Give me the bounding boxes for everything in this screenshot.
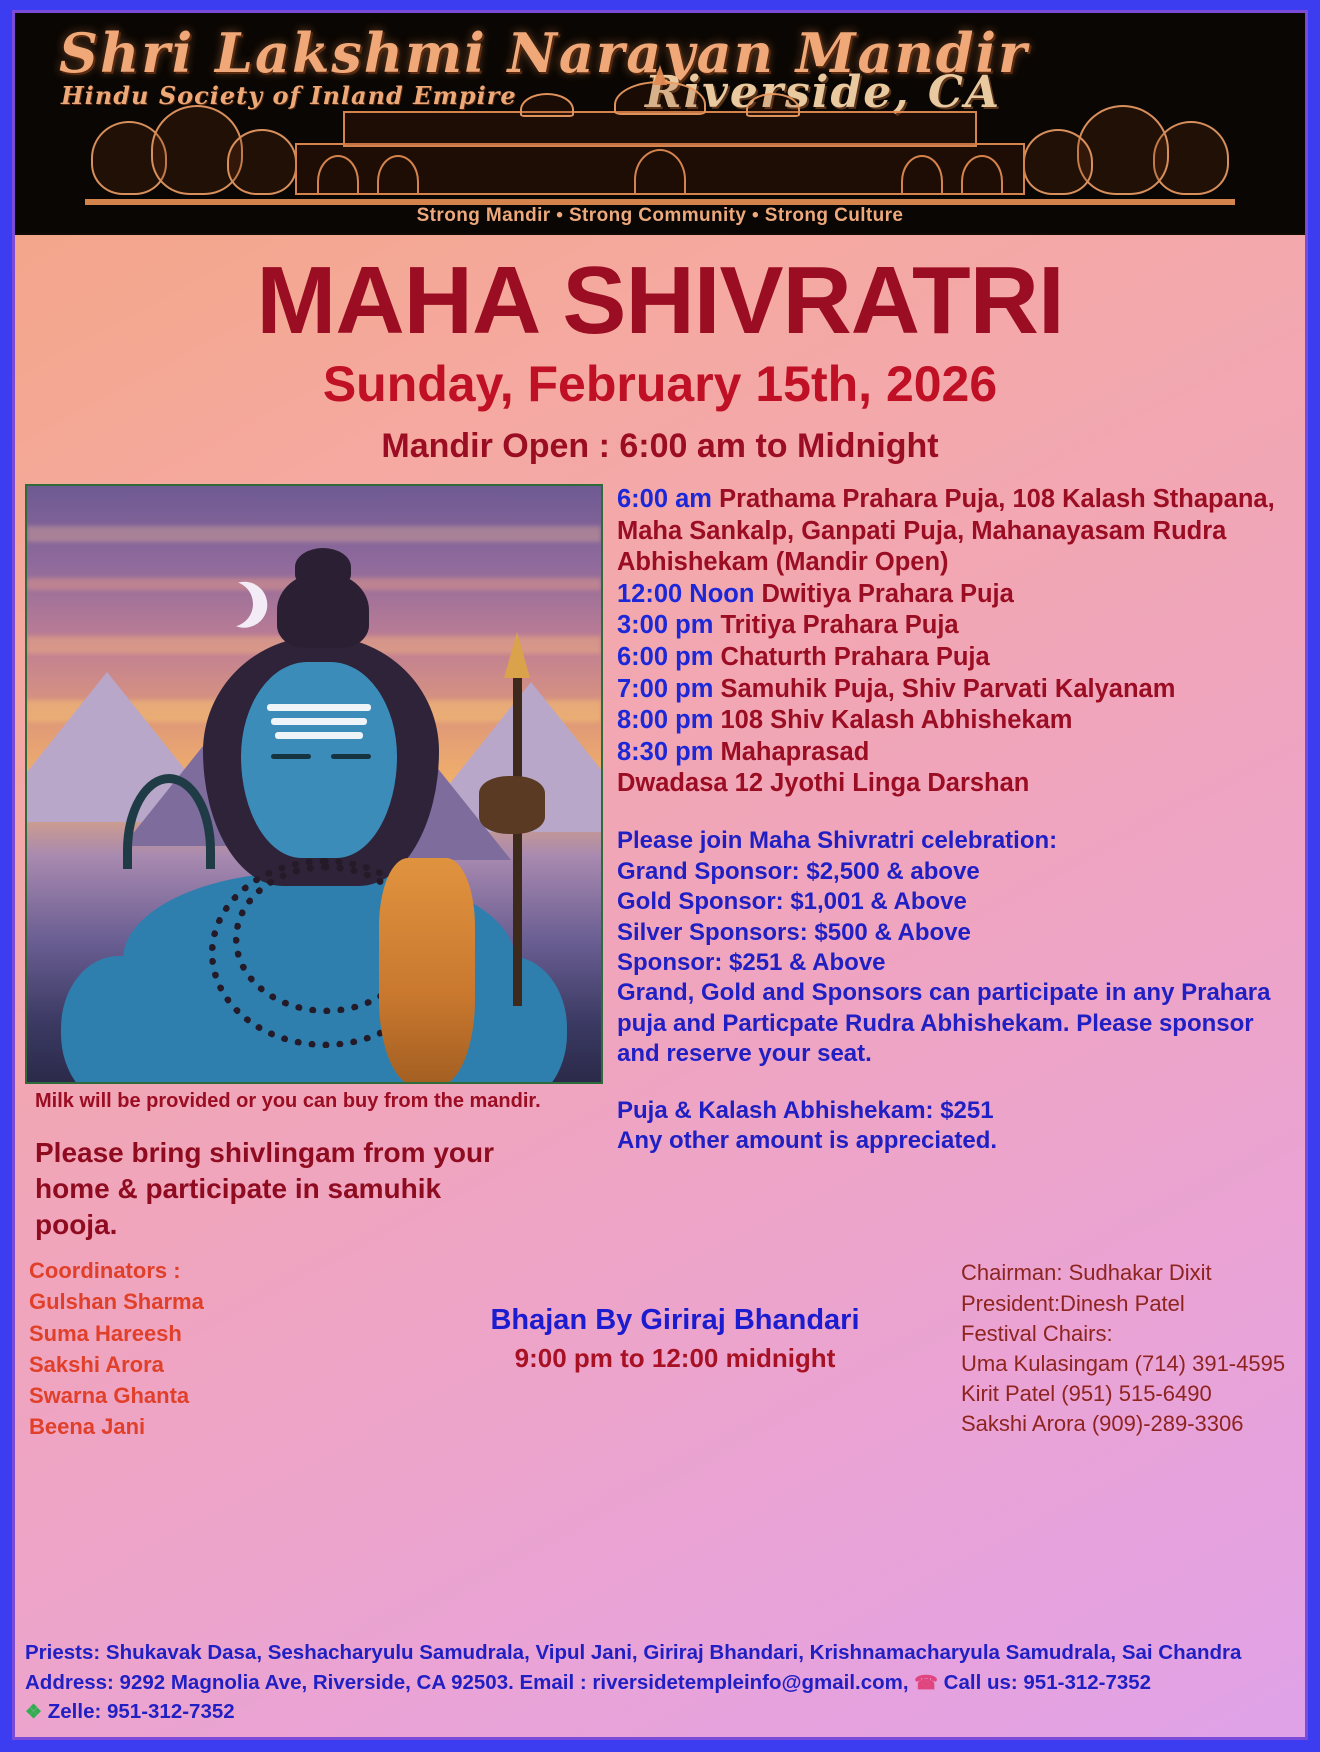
schedule-item: 6:00 am Prathama Prahara Puja, 108 Kalas… [617,484,1289,579]
bhajan-block: Bhajan By Giriraj Bhandari 9:00 pm to 12… [389,1258,961,1374]
coordinators-names: Gulshan SharmaSuma HareeshSakshi AroraSw… [29,1286,389,1442]
officers-block: Chairman: Sudhakar DixitPresident:Dinesh… [961,1258,1291,1439]
coordinator-name: Swarna Ghanta [29,1380,389,1411]
schedule-time: 3:00 pm [617,611,713,639]
left-column: Milk will be provided or you can buy fro… [15,484,607,1242]
schedule-description: Prathama Prahara Puja, 108 Kalash Sthapa… [617,485,1275,576]
coordinator-name: Gulshan Sharma [29,1286,389,1317]
schedule-item: 8:00 pm 108 Shiv Kalash Abhishekam [617,705,1289,737]
schedule-item: 8:30 pm Mahaprasad [617,737,1289,769]
milk-note: Milk will be provided or you can buy fro… [35,1090,607,1113]
phone-icon: ☎ [914,1673,938,1694]
sponsorship-intro: Please join Maha Shivratri celebration: [617,826,1289,856]
trident-icon [513,676,522,1006]
temple-icon [85,83,1235,205]
bhajan-time: 9:00 pm to 12:00 midnight [389,1343,961,1374]
pricing-block: Puja & Kalash Abhishekam: $251 Any other… [617,1096,1289,1157]
coordinators-block: Coordinators : Gulshan SharmaSuma Harees… [29,1258,389,1442]
schedule-description: Tritiya Prahara Puja [720,611,958,639]
sponsorship-block: Please join Maha Shivratri celebration: … [617,826,1289,1070]
schedule-time: 8:00 pm [617,706,713,734]
shiva-illustration [25,484,603,1084]
puja-kalash-price: Puja & Kalash Abhishekam: $251 [617,1096,1289,1126]
bhajan-title: Bhajan By Giriraj Bhandari [389,1304,961,1337]
sponsorship-note: Grand, Gold and Sponsors can participate… [617,978,1289,1069]
schedule-item: 6:00 pm Chaturth Prahara Puja [617,642,1289,674]
officer-line: Uma Kulasingam (714) 391-4595 [961,1349,1291,1379]
schedule-item: 12:00 Noon Dwitiya Prahara Puja [617,579,1289,611]
temple-tagline: Strong Mandir • Strong Community • Stron… [15,205,1305,227]
officer-line: Festival Chairs: [961,1319,1291,1349]
damaru-icon [479,776,545,834]
shivlingam-note: Please bring shivlingam from your home &… [35,1135,505,1242]
right-column: 6:00 am Prathama Prahara Puja, 108 Kalas… [607,484,1305,1157]
priests-line: Priests: Shukavak Dasa, Seshacharyulu Sa… [25,1638,1295,1668]
temple-header-banner: Shri Lakshmi Narayan Mandir Hindu Societ… [15,13,1305,235]
schedule-time: 12:00 Noon [617,580,754,608]
footer-contact: Priests: Shukavak Dasa, Seshacharyulu Sa… [15,1638,1305,1737]
zelle-line: ❖ Zelle: 951-312-7352 [25,1697,1295,1727]
schedule-item: Dwadasa 12 Jyothi Linga Darshan [617,768,1289,800]
title-block: MAHA SHIVRATRI Sunday, February 15th, 20… [15,235,1305,466]
call-us-text: Call us: 951-312-7352 [944,1671,1151,1694]
officer-line: Chairman: Sudhakar Dixit [961,1258,1291,1288]
coordinators-title: Coordinators : [29,1258,389,1284]
sponsorship-tiers: Grand Sponsor: $2,500 & aboveGold Sponso… [617,857,1289,979]
officer-line: President:Dinesh Patel [961,1289,1291,1319]
schedule-description: Mahaprasad [720,738,869,766]
coordinator-name: Beena Jani [29,1411,389,1442]
sponsorship-tier: Gold Sponsor: $1,001 & Above [617,887,1289,917]
schedule-description: 108 Shiv Kalash Abhishekam [720,706,1072,734]
mandir-open-hours: Mandir Open : 6:00 am to Midnight [15,427,1305,466]
event-date: Sunday, February 15th, 2026 [15,355,1305,413]
sponsorship-tier: Sponsor: $251 & Above [617,948,1289,978]
schedule-time: 7:00 pm [617,675,713,703]
address-line: Address: 9292 Magnolia Ave, Riverside, C… [25,1668,1295,1698]
schedule-list: 6:00 am Prathama Prahara Puja, 108 Kalas… [617,484,1289,800]
coordinator-name: Suma Hareesh [29,1318,389,1349]
schedule-description: Samuhik Puja, Shiv Parvati Kalyanam [720,675,1175,703]
page-title: MAHA SHIVRATRI [15,253,1305,349]
schedule-item: 3:00 pm Tritiya Prahara Puja [617,610,1289,642]
zelle-text: Zelle: 951-312-7352 [48,1700,235,1723]
sponsorship-tier: Silver Sponsors: $500 & Above [617,918,1289,948]
poster-inner-frame: Shri Lakshmi Narayan Mandir Hindu Societ… [12,10,1308,1740]
schedule-time: 6:00 am [617,485,712,513]
address-text: Address: 9292 Magnolia Ave, Riverside, C… [25,1671,909,1694]
officer-line: Sakshi Arora (909)-289-3306 [961,1409,1291,1439]
schedule-description: Chaturth Prahara Puja [720,643,989,671]
schedule-time: 6:00 pm [617,643,713,671]
any-amount-note: Any other amount is appreciated. [617,1126,1289,1156]
zelle-icon: ❖ [25,1702,42,1723]
schedule-time: 8:30 pm [617,738,713,766]
schedule-description: Dwitiya Prahara Puja [762,580,1014,608]
schedule-description: Dwadasa 12 Jyothi Linga Darshan [617,769,1029,797]
flyer-poster: Shri Lakshmi Narayan Mandir Hindu Societ… [0,0,1320,1752]
coordinator-name: Sakshi Arora [29,1349,389,1380]
body-columns: Milk will be provided or you can buy fro… [15,484,1305,1242]
officer-line: Kirit Patel (951) 515-6490 [961,1379,1291,1409]
lower-section: Coordinators : Gulshan SharmaSuma Harees… [15,1258,1305,1442]
sponsorship-tier: Grand Sponsor: $2,500 & above [617,857,1289,887]
schedule-item: 7:00 pm Samuhik Puja, Shiv Parvati Kalya… [617,674,1289,706]
